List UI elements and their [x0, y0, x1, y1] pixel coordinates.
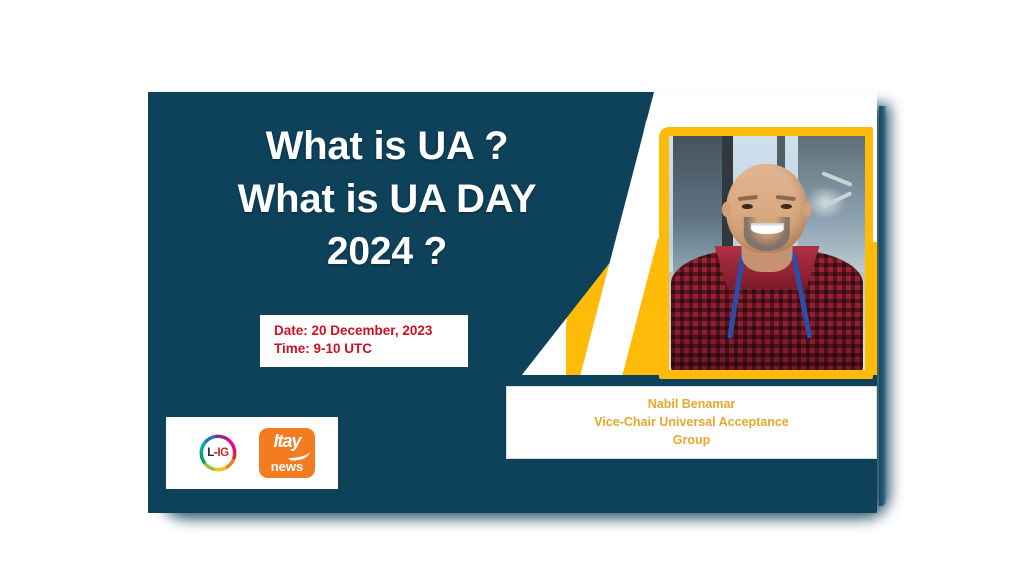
- date-time-box: Date: 20 December, 2023 Time: 9-10 UTC: [260, 315, 468, 367]
- speaker-name: Nabil Benamar: [648, 396, 736, 413]
- speaker-photo-frame: [659, 127, 873, 379]
- event-time: Time: 9-10 UTC: [274, 340, 468, 358]
- title-line-1: What is UA ?: [172, 120, 602, 173]
- presentation-slide-card: What is UA ? What is UA DAY 2024 ? Date:…: [148, 92, 877, 513]
- speaker-role-line-2: Group: [673, 432, 711, 449]
- speaker-caption-box: Nabil Benamar Vice-Chair Universal Accep…: [506, 386, 877, 459]
- speaker-photo: [669, 136, 865, 370]
- logo-bar: L-IG Itay news: [166, 417, 338, 489]
- lig-logo: L-IG: [189, 424, 247, 482]
- event-date: Date: 20 December, 2023: [274, 322, 468, 340]
- slide-canvas: What is UA ? What is UA DAY 2024 ? Date:…: [0, 0, 1024, 576]
- lig-logo-text-primary: L-: [207, 447, 217, 459]
- page-title: What is UA ? What is UA DAY 2024 ?: [172, 120, 602, 277]
- title-line-2: What is UA DAY: [172, 173, 602, 226]
- title-line-3: 2024 ?: [172, 226, 602, 277]
- speaker-role-line-1: Vice-Chair Universal Acceptance: [594, 414, 789, 431]
- lig-logo-text-secondary: IG: [217, 447, 228, 459]
- card-right-edge-shadow: [879, 106, 887, 506]
- italy-news-logo: Itay news: [259, 428, 315, 478]
- italy-news-logo-bottom-text: news: [259, 460, 315, 473]
- lig-logo-text: L-IG: [203, 438, 233, 468]
